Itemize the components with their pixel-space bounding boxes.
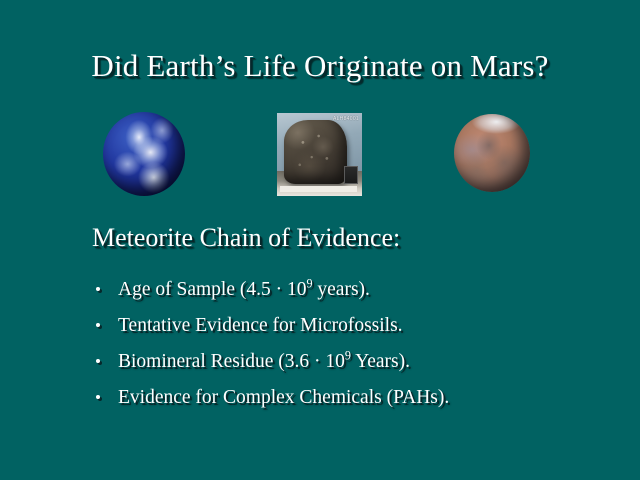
meteorite-label-text: ALH84001 (333, 116, 359, 122)
bullet-point-icon (96, 359, 100, 363)
presentation-slide: Did Earth’s Life Originate on Mars? ALH8… (0, 0, 640, 480)
list-item-label: Evidence for Complex Chemicals (PAHs). (118, 387, 449, 408)
list-item-label: Tentative Evidence for Microfossils. (118, 315, 403, 336)
evidence-bullet-list: Age of Sample (4.5 · 109 years). Tentati… (92, 278, 592, 422)
list-item: Biomineral Residue (3.6 · 109 Years). (92, 350, 592, 374)
section-heading: Meteorite Chain of Evidence: (92, 222, 400, 254)
slide-title: Did Earth’s Life Originate on Mars? (0, 48, 640, 84)
list-item: Age of Sample (4.5 · 109 years). (92, 278, 592, 302)
earth-globe-graphic (103, 112, 185, 196)
meteorite-photo: ALH84001 (277, 113, 362, 196)
image-row: ALH84001 (0, 108, 640, 204)
list-item: Evidence for Complex Chemicals (PAHs). (92, 386, 592, 410)
list-item: Tentative Evidence for Microfossils. (92, 314, 592, 338)
mars-globe-image (454, 114, 530, 192)
earth-globe-image (103, 112, 185, 196)
bullet-point-icon (96, 323, 100, 327)
list-item-label: Biomineral Residue (3.6 · 109 Years). (118, 351, 410, 372)
bullet-point-icon (96, 395, 100, 399)
list-item-label: Age of Sample (4.5 · 109 years). (118, 279, 370, 300)
bullet-point-icon (96, 287, 100, 291)
meteorite-base-plate (280, 186, 357, 192)
meteorite-scale-cube (344, 166, 358, 185)
mars-globe-graphic (454, 114, 530, 192)
meteorite-rock-graphic (284, 120, 347, 183)
